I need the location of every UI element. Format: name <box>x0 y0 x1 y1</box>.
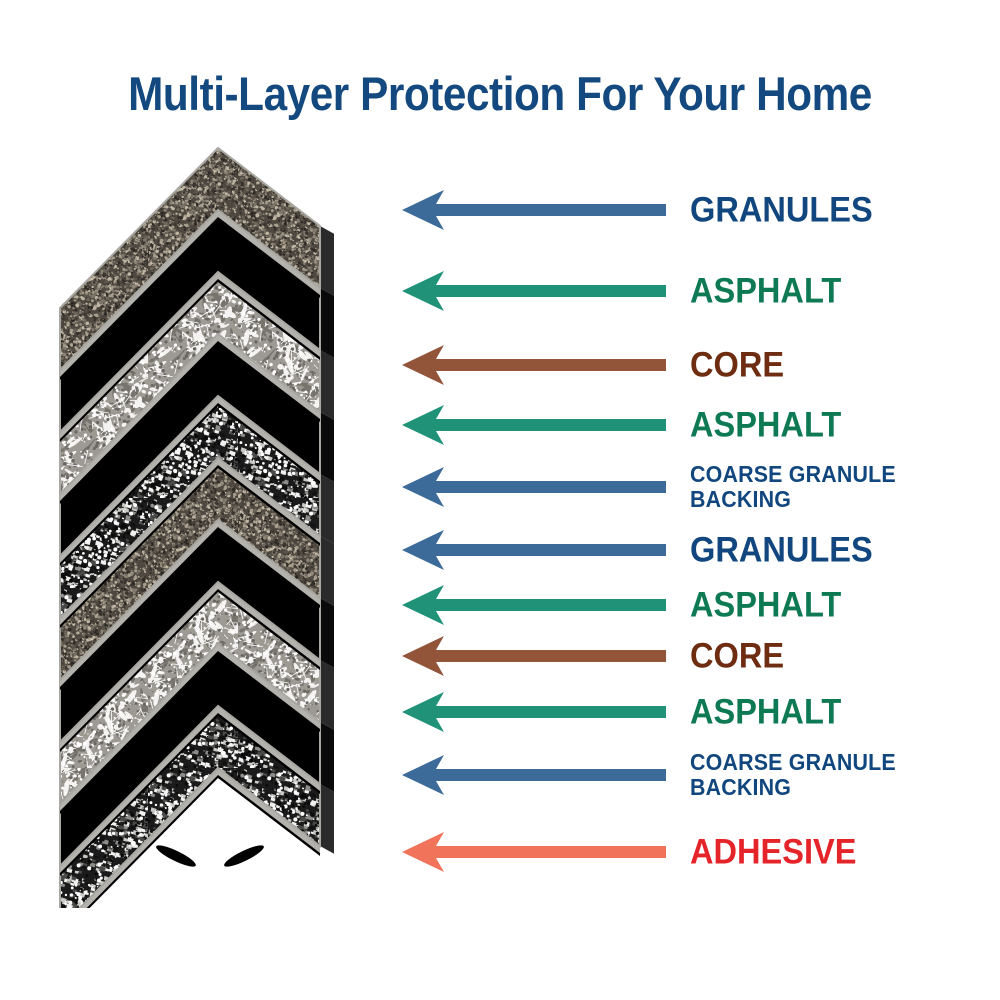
callout-label: GRANULES <box>690 533 873 568</box>
page-title: Multi-Layer Protection For Your Home <box>50 68 950 120</box>
callout-label: ASPHALT <box>690 588 841 623</box>
callout-label: GRANULES <box>690 193 873 228</box>
callout-label: CORE <box>690 348 784 383</box>
callout-label: ASPHALT <box>690 274 841 309</box>
arrow-left-icon <box>400 403 668 447</box>
callout-label: ASPHALT <box>690 408 841 443</box>
callout-label: CORE <box>690 639 784 674</box>
callout-label: ASPHALT <box>690 695 841 730</box>
arrow-left-icon <box>400 583 668 627</box>
arrow-left-icon <box>400 830 668 874</box>
arrow-left-icon <box>400 753 668 797</box>
callout-label-line: COARSE GRANULE <box>690 749 896 775</box>
callout-label: ADHESIVE <box>690 835 856 870</box>
callout-label-line: BACKING <box>690 775 896 800</box>
callout-label-line: BACKING <box>690 487 896 512</box>
arrow-left-icon <box>400 269 668 313</box>
shingle-stack-svg <box>58 138 398 908</box>
callout-label: COARSE GRANULEBACKING <box>690 750 896 800</box>
arrow-left-icon <box>400 188 668 232</box>
arrow-left-icon <box>400 343 668 387</box>
arrow-left-icon <box>400 634 668 678</box>
callout-label: COARSE GRANULEBACKING <box>690 462 896 512</box>
arrow-left-icon <box>400 528 668 572</box>
callout-label-line: COARSE GRANULE <box>690 461 896 487</box>
arrow-left-icon <box>400 690 668 734</box>
adhesive-marks <box>154 842 266 870</box>
infographic-canvas: Multi-Layer Protection For Your Home GRA… <box>0 0 1000 1000</box>
arrow-left-icon <box>400 465 668 509</box>
shingle-cross-section-illustration <box>58 138 398 908</box>
